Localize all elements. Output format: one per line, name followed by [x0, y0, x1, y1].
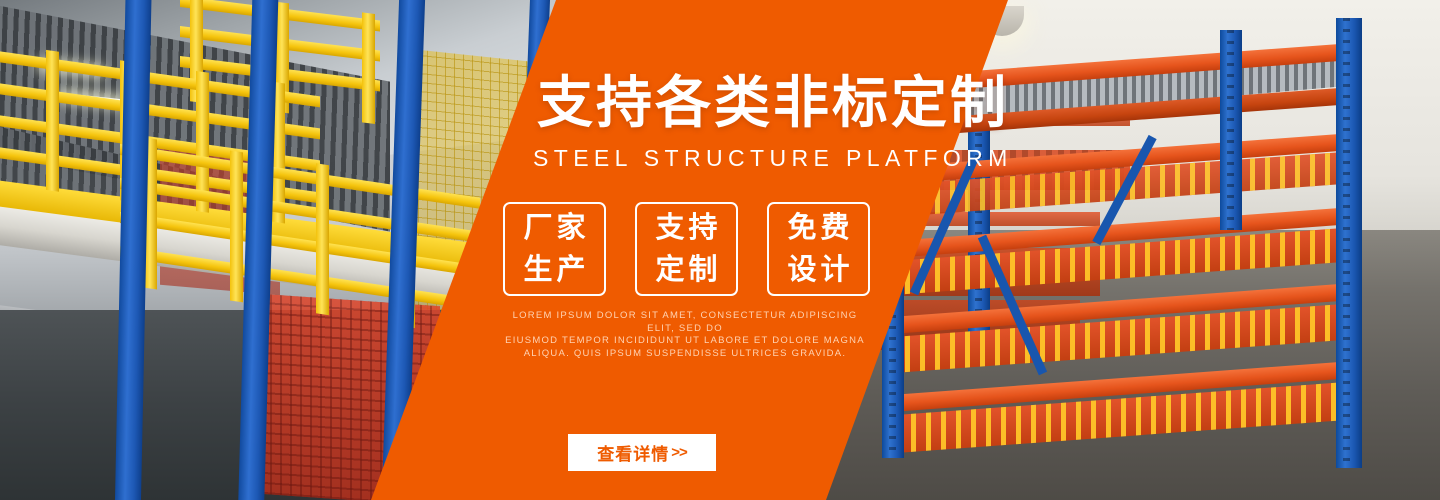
banner-content: 支持各类非标定制 STEEL STRUCTURE PLATFORM 厂家 生产 … [0, 0, 1440, 500]
view-details-label: 查看详情 [597, 440, 669, 465]
view-details-button[interactable]: 查看详情 >> [568, 434, 716, 471]
badge-line-2: 生产 [519, 249, 589, 291]
chevron-right-icon: >> [671, 444, 687, 461]
feature-badge-free-design: 免费 设计 [767, 202, 870, 296]
description-text: Lorem ipsum dolor sit amet, consectetur … [498, 310, 872, 360]
page-title: 支持各类非标定制 [537, 74, 1009, 132]
badge-line-1: 免费 [783, 207, 853, 249]
badge-line-1: 支持 [651, 207, 721, 249]
promo-banner: 支持各类非标定制 STEEL STRUCTURE PLATFORM 厂家 生产 … [0, 0, 1440, 500]
description-line: eiusmod tempor incididunt ut labore et d… [498, 335, 872, 348]
badge-line-1: 厂家 [519, 207, 589, 249]
feature-badge-list: 厂家 生产 支持 定制 免费 设计 [503, 202, 870, 296]
badge-line-2: 设计 [783, 249, 853, 291]
description-line: aliqua. Quis ipsum suspendisse ultrices … [498, 348, 872, 361]
subtitle: STEEL STRUCTURE PLATFORM [533, 145, 1013, 171]
description-line: Lorem ipsum dolor sit amet, consectetur … [498, 310, 872, 335]
feature-badge-manufacturer: 厂家 生产 [503, 202, 606, 296]
feature-badge-customization: 支持 定制 [635, 202, 738, 296]
badge-line-2: 定制 [651, 249, 721, 291]
